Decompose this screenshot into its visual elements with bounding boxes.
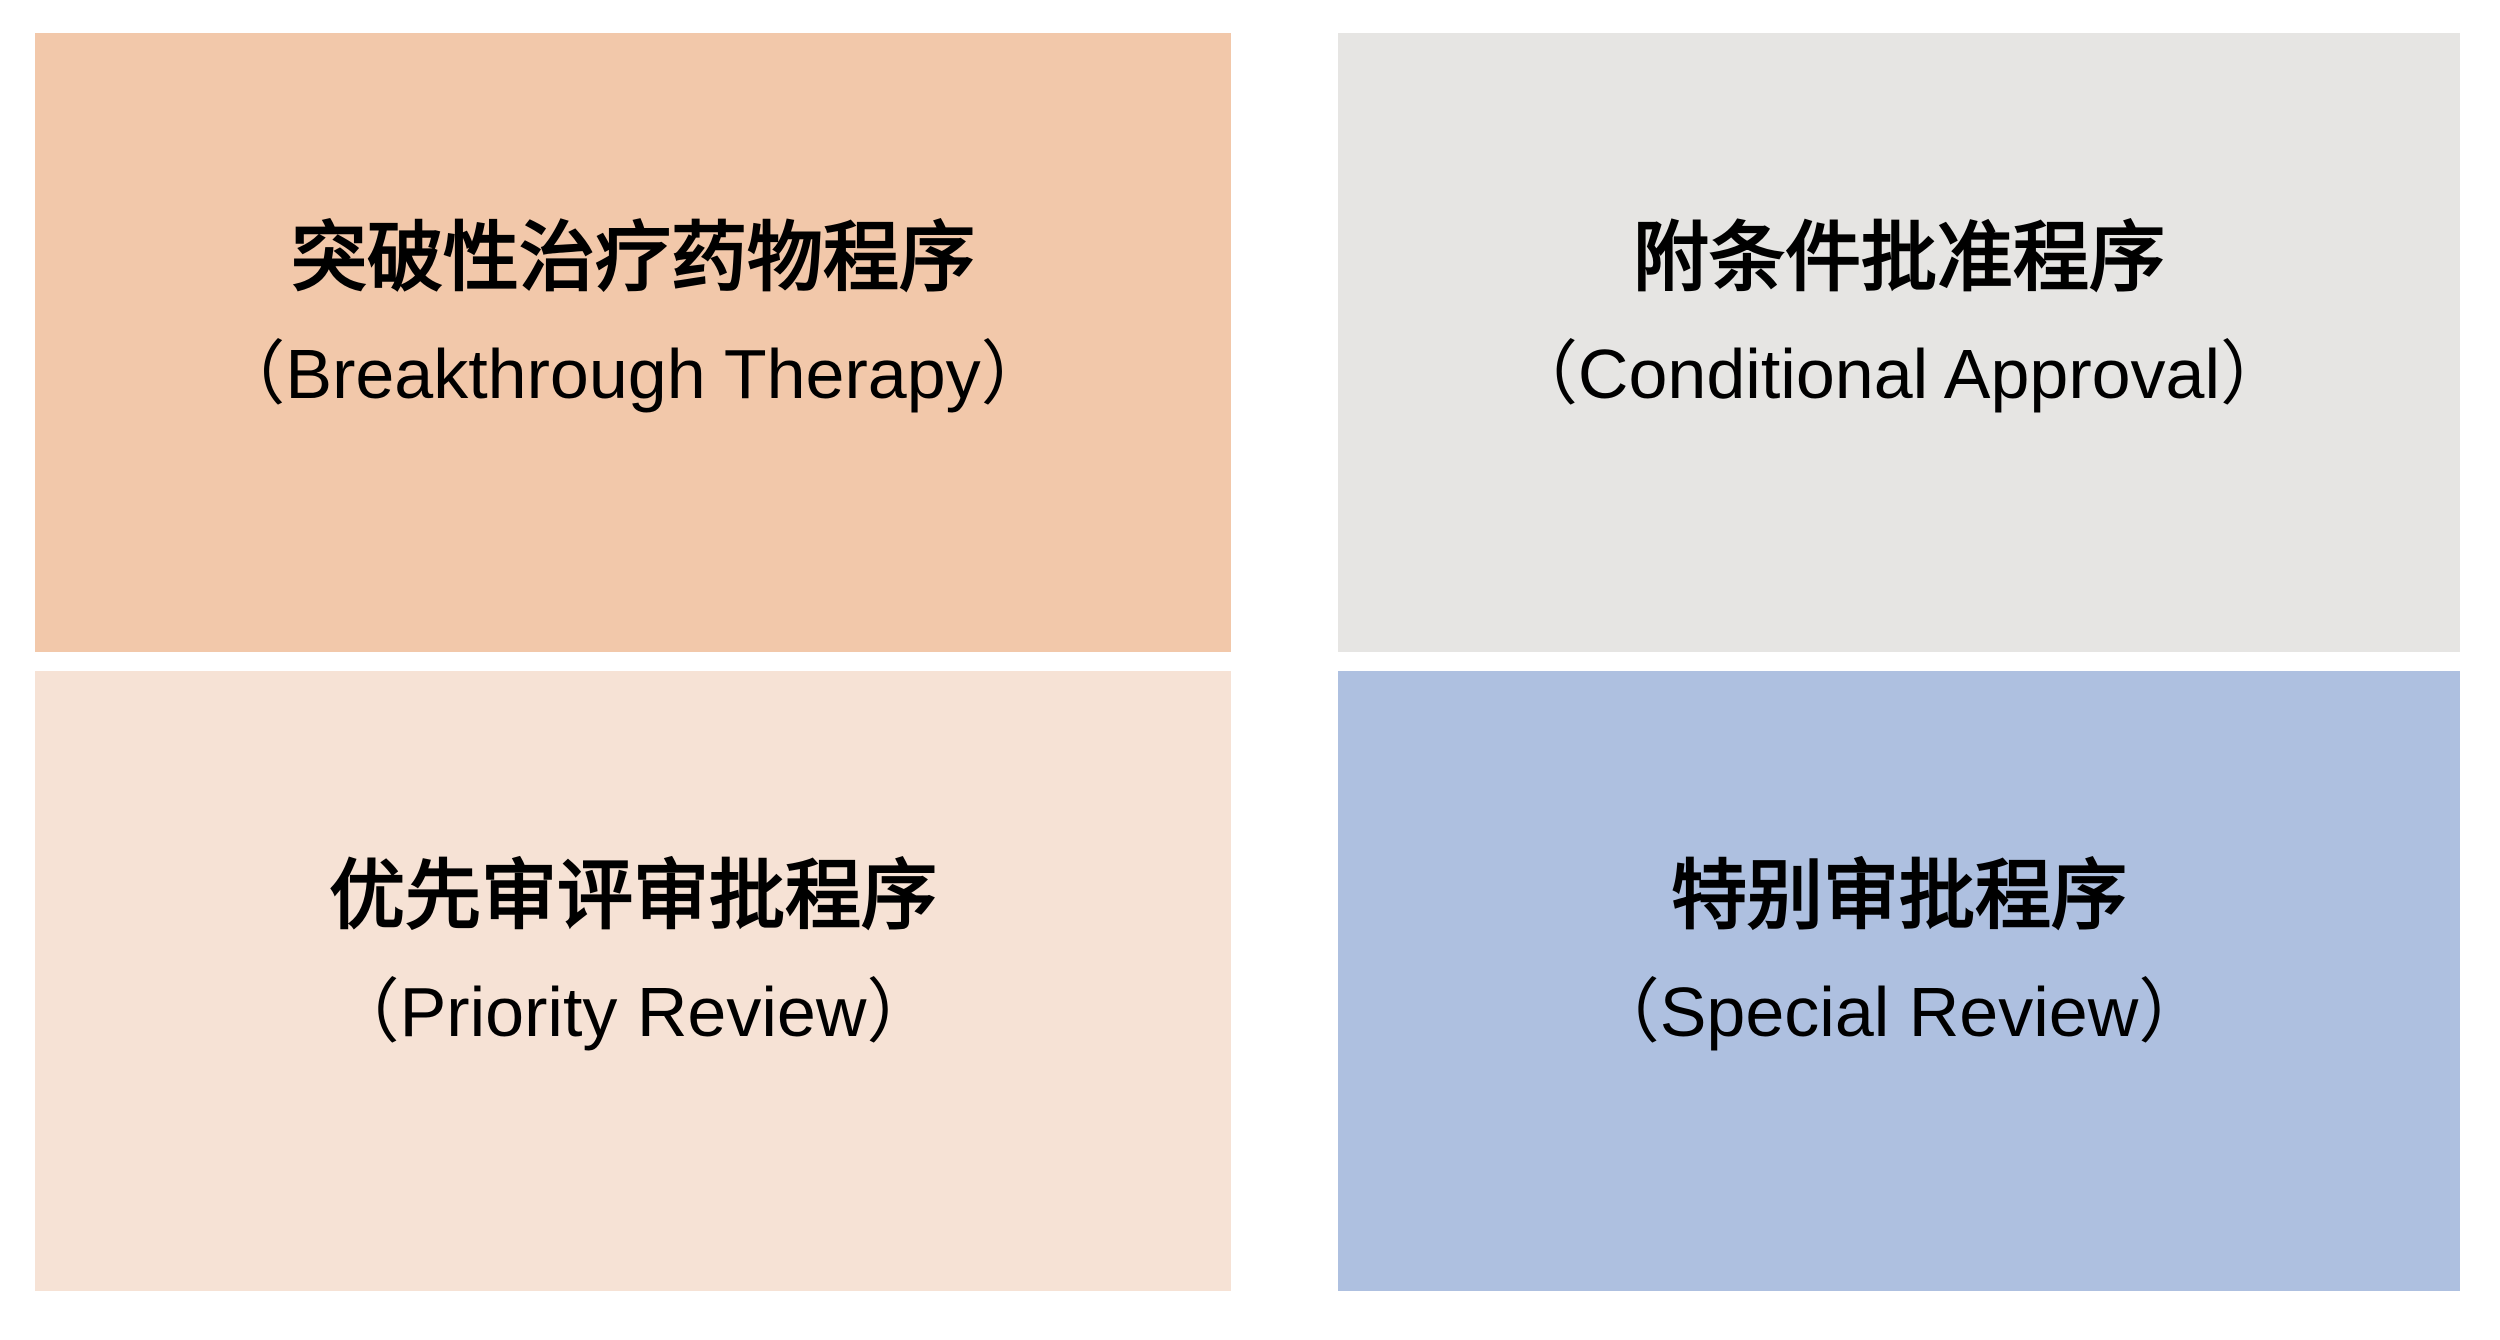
card-conditional-approval[interactable]: 附条件批准程序 （Conditional Approval） bbox=[1338, 33, 2460, 652]
card-title-en: （Special Review） bbox=[1338, 977, 2460, 1047]
card-text-block: 优先审评审批程序 （Priority Review） bbox=[35, 859, 1231, 1047]
card-title-cn: 特别审批程序 bbox=[1338, 859, 2460, 935]
diagram-canvas: 突破性治疗药物程序 （Breakthrough Therapy） 附条件批准程序… bbox=[0, 0, 2500, 1340]
card-title-en: （Priority Review） bbox=[35, 977, 1231, 1047]
card-title-en: （Breakthrough Therapy） bbox=[35, 339, 1231, 409]
card-title-en: （Conditional Approval） bbox=[1338, 339, 2460, 409]
card-text-block: 特别审批程序 （Special Review） bbox=[1338, 859, 2460, 1047]
card-special-review[interactable]: 特别审批程序 （Special Review） bbox=[1338, 671, 2460, 1291]
card-breakthrough-therapy[interactable]: 突破性治疗药物程序 （Breakthrough Therapy） bbox=[35, 33, 1231, 652]
card-title-cn: 优先审评审批程序 bbox=[35, 859, 1231, 935]
card-text-block: 附条件批准程序 （Conditional Approval） bbox=[1338, 221, 2460, 409]
card-title-cn: 附条件批准程序 bbox=[1338, 221, 2460, 297]
card-title-cn: 突破性治疗药物程序 bbox=[35, 221, 1231, 297]
card-text-block: 突破性治疗药物程序 （Breakthrough Therapy） bbox=[35, 221, 1231, 409]
card-priority-review[interactable]: 优先审评审批程序 （Priority Review） bbox=[35, 671, 1231, 1291]
